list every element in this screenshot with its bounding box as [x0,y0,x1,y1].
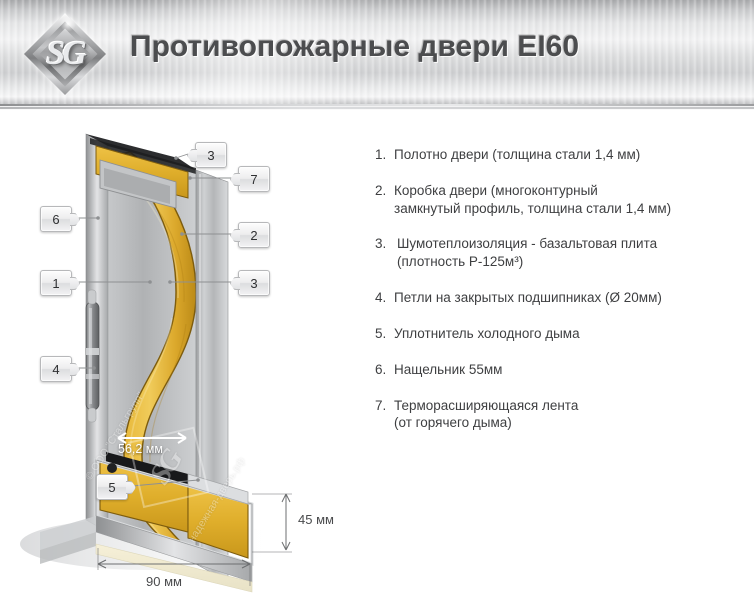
callout-7[interactable]: 7 [238,166,270,192]
header-divider-4 [0,109,754,110]
callout-3-mid[interactable]: 3 [238,270,270,296]
legend-number: 5. [375,325,394,343]
legend-item-2: 2. Коробка двери (многоконтурный замкнут… [375,182,747,218]
stalgroup-diamond-logo: SG [16,10,114,98]
callout-4[interactable]: 4 [40,356,72,382]
legend-label: Полотно двери (толщина стали 1,4 мм) [394,146,747,164]
legend-label: Нащельник 55мм [394,361,747,379]
legend-label: Терморасширяющаяся лента (от горячего ды… [394,397,747,433]
legend-item-7: 7. Терморасширяющаяся лента (от горячего… [375,397,747,433]
dim-door-thickness-label: 56,2 мм [118,442,163,456]
page-title: Противопожарные двери EI60 [130,30,579,64]
callout-3-top[interactable]: 3 [195,142,227,168]
legend-item-3: 3. Шумотеплоизоляция - базальтовая плита… [375,235,747,271]
legend-item-6: 6. Нащельник 55мм [375,361,747,379]
legend-number: 7. [375,397,394,433]
legend-label: Шумотеплоизоляция - базальтовая плита (п… [397,235,747,271]
logo-monogram: SG [16,10,114,98]
legend-list: 1. Полотно двери (толщина стали 1,4 мм) … [375,146,747,450]
legend-number: 4. [375,289,394,307]
legend-item-5: 5. Уплотнитель холодного дыма [375,325,747,343]
legend-label: Уплотнитель холодного дыма [394,325,747,343]
legend-item-1: 1. Полотно двери (толщина стали 1,4 мм) [375,146,747,164]
callout-5[interactable]: 5 [96,474,128,500]
callout-2[interactable]: 2 [238,222,270,248]
smoke-seal-bead [107,463,117,473]
legend-number: 6. [375,361,394,379]
legend-number: 1. [375,146,394,164]
door-hinge [86,290,99,422]
callout-6[interactable]: 6 [40,206,72,232]
dim-frame-height-label: 45 мм [298,512,334,527]
page-root: SG Противопожарные двери EI60 1. Полотно… [0,0,754,600]
legend-label: Коробка двери (многоконтурный замкнутый … [394,182,747,218]
legend-number: 3. [375,235,397,271]
dim-frame-width-label: 90 мм [146,574,182,589]
fire-door-cross-section-diagram: © ООО "Стальгрупп" SG надежная-дверь.рф … [0,112,370,600]
legend-label: Петли на закрытых подшипниках (Ø 20мм) [394,289,747,307]
legend-item-4: 4. Петли на закрытых подшипниках (Ø 20мм… [375,289,747,307]
callout-1[interactable]: 1 [40,270,72,296]
legend-number: 2. [375,182,394,218]
